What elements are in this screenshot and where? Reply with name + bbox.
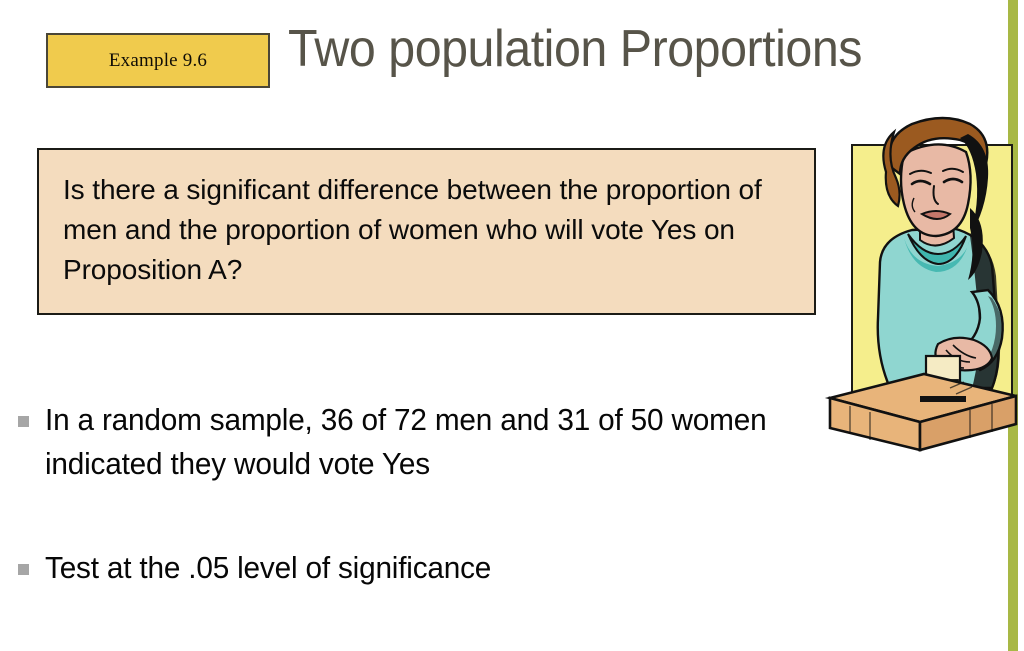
list-item: In a random sample, 36 of 72 men and 31 … [18, 398, 818, 486]
list-item: Test at the .05 level of significance [18, 546, 818, 590]
question-text: Is there a significant difference betwee… [63, 170, 796, 289]
ballot-voter-icon [820, 112, 1024, 452]
list-item-label: Test at the .05 level of significance [45, 546, 491, 590]
page-title: Two population Proportions [288, 22, 862, 77]
list-item-label: In a random sample, 36 of 72 men and 31 … [45, 398, 787, 486]
voter-illustration [820, 112, 1024, 452]
example-badge: Example 9.6 [46, 33, 270, 88]
slide-canvas: Example 9.6 Two population Proportions I… [0, 0, 1024, 651]
square-bullet-icon [18, 416, 29, 427]
example-badge-label: Example 9.6 [109, 50, 207, 72]
question-callout-box: Is there a significant difference betwee… [37, 148, 816, 315]
square-bullet-icon [18, 564, 29, 575]
